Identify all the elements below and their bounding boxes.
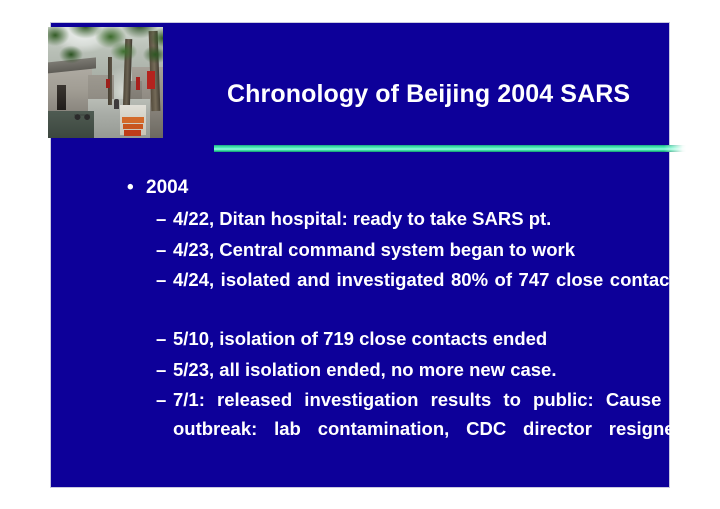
list-item-text: 2004 [146, 177, 188, 198]
list-item: – 5/23, all isolation ended, no more new… [156, 356, 691, 385]
photo-red-lantern [147, 71, 155, 89]
list-item: – 4/23, Central command system began to … [156, 236, 691, 265]
bullet-dash-icon: – [156, 386, 166, 415]
list-item-text: 5/23, all isolation ended, no more new c… [173, 356, 691, 385]
list-item-text: 5/10, isolation of 719 close contacts en… [173, 325, 691, 354]
photo-produce-box [123, 124, 143, 129]
list-item: – 4/22, Ditan hospital: ready to take SA… [156, 205, 691, 234]
photo-produce-box [122, 117, 144, 123]
list-item-text: 4/22, Ditan hospital: ready to take SARS… [173, 205, 691, 234]
list-item-text: 4/24, isolated and investigated 80% of 7… [173, 266, 691, 323]
bullet-dot-icon: • [127, 173, 134, 203]
photo-produce-box [124, 130, 141, 136]
list-item: – 5/10, isolation of 719 close contacts … [156, 325, 691, 354]
photo-red-lantern [136, 77, 140, 90]
bullet-dash-icon: – [156, 356, 166, 385]
slide-body-list: • 2004 – 4/22, Ditan hospital: ready to … [101, 173, 720, 474]
list-item-text: 7/1: released investigation results to p… [173, 386, 691, 472]
title-divider-bar [214, 145, 686, 152]
list-item-text: 4/23, Central command system began to wo… [173, 236, 691, 265]
list-item: • 2004 [101, 173, 720, 203]
photo-parked-bicycle [74, 107, 90, 121]
hutong-street-photo [48, 27, 163, 138]
slide-title: Chronology of Beijing 2004 SARS [227, 79, 697, 109]
photo-pedestrian [114, 99, 119, 109]
bullet-dash-icon: – [156, 266, 166, 295]
list-item: – 7/1: released investigation results to… [156, 386, 691, 472]
bullet-dash-icon: – [156, 325, 166, 354]
list-item: – 4/24, isolated and investigated 80% of… [156, 266, 691, 323]
photo-red-sign [106, 79, 110, 88]
bullet-dash-icon: – [156, 205, 166, 234]
bullet-dash-icon: – [156, 236, 166, 265]
